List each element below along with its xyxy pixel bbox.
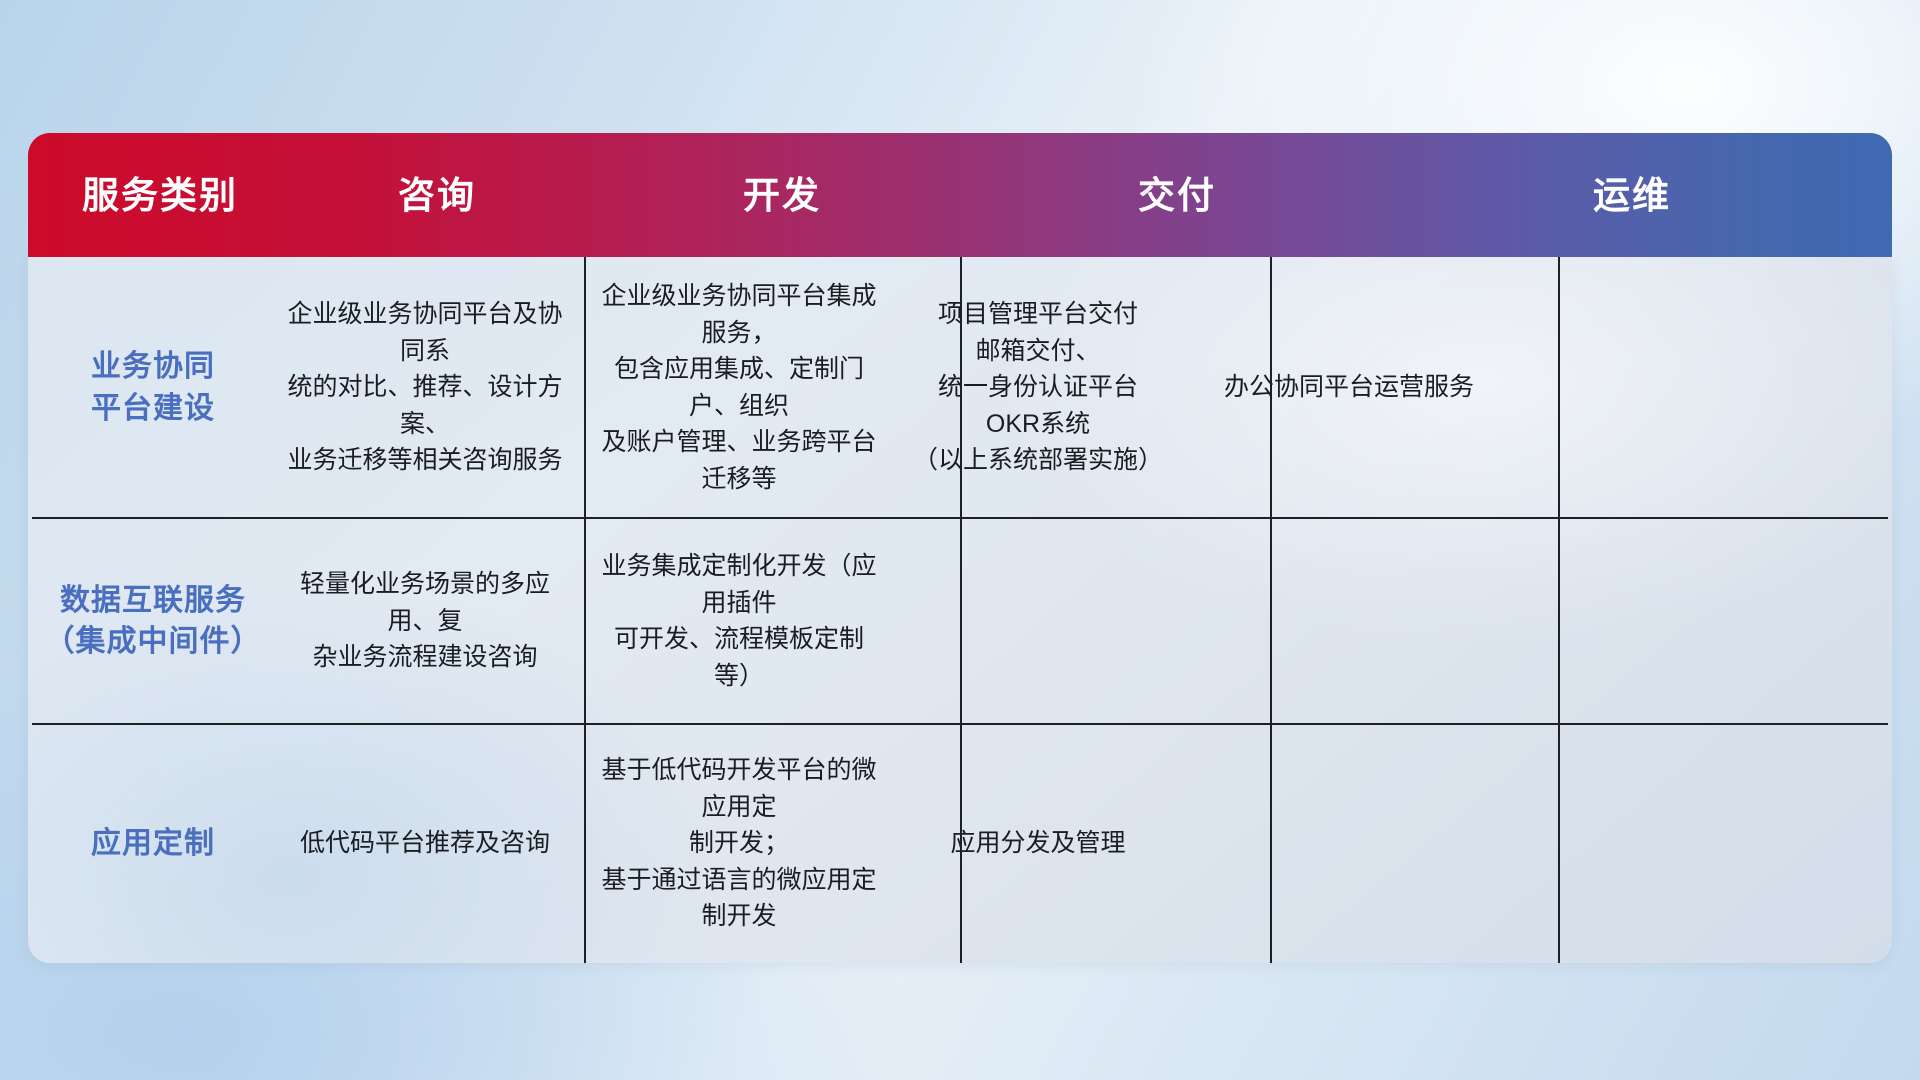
table-body: 业务协同 平台建设 企业级业务协同平台及协同系 统的对比、推荐、设计方案、 业务…	[28, 257, 1892, 963]
category-label: 业务协同 平台建设	[28, 346, 278, 429]
column-header-service-category: 服务类别	[28, 177, 292, 214]
column-header-delivery: 交付	[982, 177, 1372, 214]
service-matrix-table: 服务类别 咨询 开发 交付 运维 业务协同 平台建设 企业级业务协同平台及协同系…	[28, 133, 1892, 963]
cell-operations	[1182, 724, 1516, 963]
column-divider	[960, 257, 962, 963]
cell-operations	[1182, 518, 1516, 724]
cell-operations: 办公协同平台运营服务	[1182, 257, 1516, 518]
cell-delivery: 应用分发及管理	[894, 724, 1182, 963]
category-label: 数据互联服务 （集成中间件）	[28, 580, 278, 663]
cell-category: 应用定制 低代码平台推荐及咨询	[28, 724, 584, 963]
category-label: 应用定制	[28, 823, 278, 864]
cell-category: 业务协同 平台建设 企业级业务协同平台及协同系 统的对比、推荐、设计方案、 业务…	[28, 257, 584, 518]
column-header-consulting: 咨询	[292, 177, 582, 214]
cell-delivery: 项目管理平台交付 邮箱交付、 统一身份认证平台 OKR系统 （以上系统部署实施）	[894, 257, 1182, 518]
cell-consulting: 企业级业务协同平台及协同系 统的对比、推荐、设计方案、 业务迁移等相关咨询服务	[278, 296, 584, 479]
cell-category: 数据互联服务 （集成中间件） 轻量化业务场景的多应用、复 杂业务流程建设咨询	[28, 518, 584, 724]
cell-development: 业务集成定制化开发（应用插件 可开发、流程模板定制等）	[584, 518, 894, 724]
slide-canvas: 服务类别 咨询 开发 交付 运维 业务协同 平台建设 企业级业务协同平台及协同系…	[0, 0, 1920, 1080]
cell-development: 企业级业务协同平台集成服务， 包含应用集成、定制门户、组织 及账户管理、业务跨平…	[584, 257, 894, 518]
column-header-development: 开发	[582, 177, 982, 214]
cell-development: 基于低代码开发平台的微应用定 制开发； 基于通过语言的微应用定制开发	[584, 724, 894, 963]
column-divider	[1558, 257, 1560, 963]
column-divider	[584, 257, 586, 963]
cell-consulting: 低代码平台推荐及咨询	[278, 825, 584, 862]
table-header-row: 服务类别 咨询 开发 交付 运维	[28, 133, 1892, 257]
column-divider	[1270, 257, 1272, 963]
cell-consulting: 轻量化业务场景的多应用、复 杂业务流程建设咨询	[278, 566, 584, 676]
cell-delivery	[894, 518, 1182, 724]
column-header-operations: 运维	[1372, 177, 1892, 214]
